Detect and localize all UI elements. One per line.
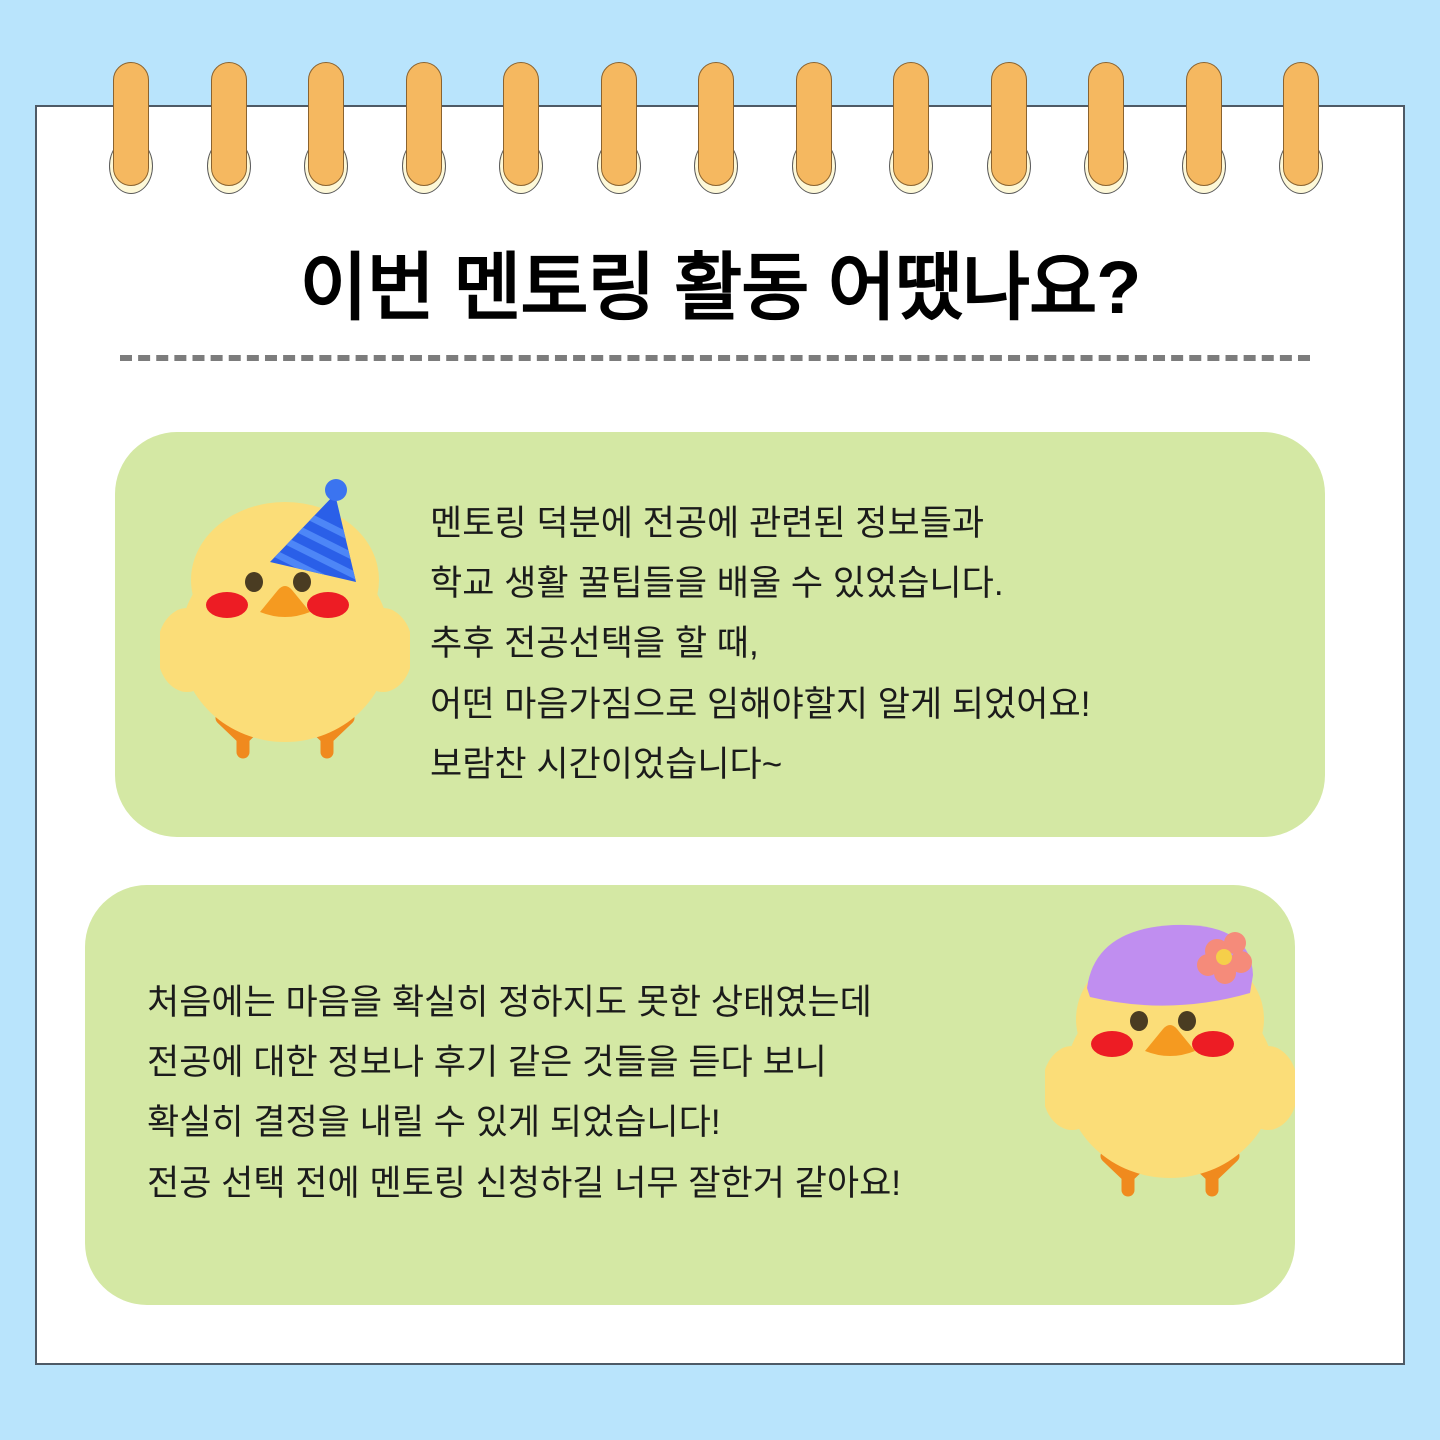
testimonial-line: 멘토링 덕분에 전공에 관련된 정보들과: [430, 494, 1090, 554]
testimonial-line: 처음에는 마음을 확실히 정하지도 못한 상태였는데: [147, 973, 901, 1033]
testimonial-line: 전공 선택 전에 멘토링 신청하길 너무 잘한거 같아요!: [147, 1154, 901, 1214]
testimonial-line: 전공에 대한 정보나 후기 같은 것들을 듣다 보니: [147, 1033, 901, 1093]
chick-cheek-left: [206, 592, 248, 618]
testimonial-line: 보람찬 시간이었습니다~: [430, 735, 1090, 795]
chick-eye-left: [1130, 1011, 1148, 1031]
testimonial-line: 추후 전공선택을 할 때,: [430, 614, 1090, 674]
chick-eye-right: [293, 572, 311, 592]
testimonial-card-1: 멘토링 덕분에 전공에 관련된 정보들과 학교 생활 꿀팁들을 배울 수 있었습…: [115, 432, 1325, 837]
testimonial-line: 확실히 결정을 내릴 수 있게 되었습니다!: [147, 1093, 901, 1153]
chick-eye-left: [245, 572, 263, 592]
testimonial-card-2: 처음에는 마음을 확실히 정하지도 못한 상태였는데 전공에 대한 정보나 후기…: [85, 885, 1295, 1305]
chick-cheek-right: [307, 592, 349, 618]
testimonial-line: 학교 생활 꿀팁들을 배울 수 있었습니다.: [430, 554, 1090, 614]
chick-cheek-left: [1091, 1031, 1133, 1057]
testimonial-1-text: 멘토링 덕분에 전공에 관련된 정보들과 학교 생활 꿀팁들을 배울 수 있었습…: [430, 494, 1090, 795]
chick-cheek-right: [1192, 1031, 1234, 1057]
testimonial-2-text: 처음에는 마음을 확실히 정하지도 못한 상태였는데 전공에 대한 정보나 후기…: [147, 973, 901, 1214]
beret-icon: [1087, 925, 1253, 1006]
dashed-divider: [120, 355, 1310, 361]
chick-party-hat-avatar: [160, 470, 410, 770]
chick-beret-avatar: [1045, 913, 1295, 1213]
testimonial-line: 어떤 마음가짐으로 임해야할지 알게 되었어요!: [430, 675, 1090, 735]
page-title: 이번 멘토링 활동 어땠나요?: [0, 228, 1440, 335]
chick-eye-right: [1178, 1011, 1196, 1031]
